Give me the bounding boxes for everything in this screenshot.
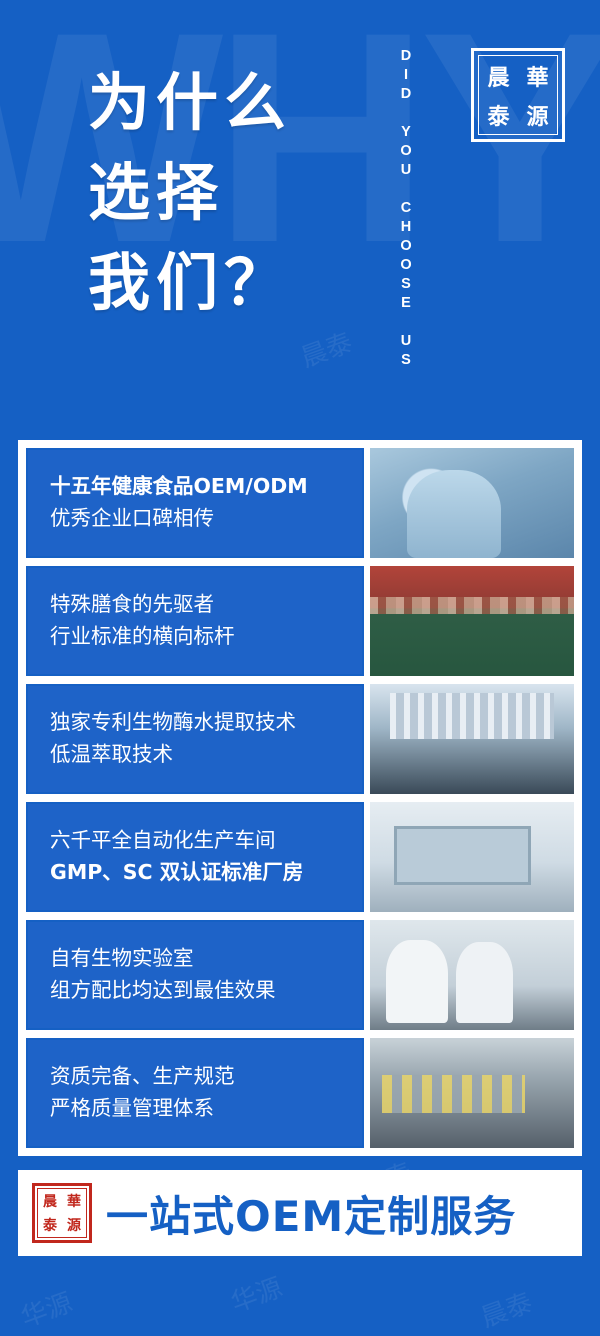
feature-row-3: 独家专利生物酶水提取技术 低温萃取技术 xyxy=(26,684,574,794)
headline-line-1: 为什么 xyxy=(88,58,292,148)
feature-line2-2: 行业标准的横向标杆 xyxy=(50,621,362,653)
footer-slogan: 一站式OEM定制服务 xyxy=(106,1183,516,1244)
feature-line1-4: 六千平全自动化生产车间 xyxy=(50,825,362,857)
watermark-4: 华源 xyxy=(225,1267,287,1320)
headline-line-2: 选择 xyxy=(88,148,292,238)
photo-fill-2 xyxy=(370,566,574,676)
feature-row-5: 自有生物实验室 组方配比均达到最佳效果 xyxy=(26,920,574,1030)
lab-staff-photo xyxy=(370,920,574,1030)
feature-text-4: 六千平全自动化生产车间 GMP、SC 双认证标准厂房 xyxy=(26,802,364,912)
features-card: 十五年健康食品OEM/ODM 优秀企业口碑相传 特殊膳食的先驱者 行业标准的横向… xyxy=(18,440,582,1156)
footer-seal-char-2: 泰 xyxy=(38,1213,62,1237)
header: 为什么 选择 我们？ DID YOU CHOOSE US 晨 華 泰 源 xyxy=(0,0,600,400)
feature-line2-5: 组方配比均达到最佳效果 xyxy=(50,975,362,1007)
feature-line1-6: 资质完备、生产规范 xyxy=(50,1061,362,1093)
feature-row-2: 特殊膳食的先驱者 行业标准的横向标杆 xyxy=(26,566,574,676)
feature-text-5: 自有生物实验室 组方配比均达到最佳效果 xyxy=(26,920,364,1030)
brand-seal-icon: 晨 華 泰 源 xyxy=(471,48,565,142)
feature-line1-2: 特殊膳食的先驱者 xyxy=(50,589,362,621)
footer-seal-inner: 晨 華 泰 源 xyxy=(37,1188,87,1238)
watermark-6: 华源 xyxy=(15,1282,77,1335)
footer-banner: 晨 華 泰 源 一站式OEM定制服务 xyxy=(18,1170,582,1256)
feature-row-1: 十五年健康食品OEM/ODM 优秀企业口碑相传 xyxy=(26,448,574,558)
feature-line2-1: 优秀企业口碑相传 xyxy=(50,503,362,535)
feature-text-1: 十五年健康食品OEM/ODM 优秀企业口碑相传 xyxy=(26,448,364,558)
page-title: 为什么 选择 我们？ xyxy=(88,58,292,328)
footer-seal-char-0: 晨 xyxy=(38,1189,62,1213)
seal-char-0: 晨 xyxy=(479,56,518,95)
feature-line1-1: 十五年健康食品OEM/ODM xyxy=(50,471,362,503)
footer-seal-char-3: 源 xyxy=(62,1213,86,1237)
feature-row-6: 资质完备、生产规范 严格质量管理体系 xyxy=(26,1038,574,1148)
feature-line2-4: GMP、SC 双认证标准厂房 xyxy=(50,857,362,889)
feature-row-4: 六千平全自动化生产车间 GMP、SC 双认证标准厂房 xyxy=(26,802,574,912)
brand-seal-inner: 晨 華 泰 源 xyxy=(478,55,558,135)
photo-fill-5 xyxy=(370,920,574,1030)
seal-char-3: 源 xyxy=(518,95,557,134)
feature-line1-5: 自有生物实验室 xyxy=(50,943,362,975)
filling-machine-photo xyxy=(370,684,574,794)
feature-text-3: 独家专利生物酶水提取技术 低温萃取技术 xyxy=(26,684,364,794)
footer-seal-char-1: 華 xyxy=(62,1189,86,1213)
vertical-english-subtitle: DID YOU CHOOSE US xyxy=(398,48,414,378)
photo-fill-3 xyxy=(370,684,574,794)
feature-line1-3: 独家专利生物酶水提取技术 xyxy=(50,707,362,739)
photo-fill-1 xyxy=(370,448,574,558)
photo-fill-6 xyxy=(370,1038,574,1148)
lab-technician-photo xyxy=(370,448,574,558)
conference-audience-photo xyxy=(370,566,574,676)
photo-fill-4 xyxy=(370,802,574,912)
feature-text-2: 特殊膳食的先驱者 行业标准的横向标杆 xyxy=(26,566,364,676)
seal-char-1: 華 xyxy=(518,56,557,95)
feature-line2-3: 低温萃取技术 xyxy=(50,739,362,771)
footer-seal-icon: 晨 華 泰 源 xyxy=(32,1183,92,1243)
watermark-5: 晨泰 xyxy=(475,1282,537,1335)
feature-text-6: 资质完备、生产规范 严格质量管理体系 xyxy=(26,1038,364,1148)
capsule-production-line-photo xyxy=(370,1038,574,1148)
feature-line2-6: 严格质量管理体系 xyxy=(50,1093,362,1125)
cleanroom-workshop-photo xyxy=(370,802,574,912)
seal-char-2: 泰 xyxy=(479,95,518,134)
headline-line-3: 我们？ xyxy=(88,238,292,328)
